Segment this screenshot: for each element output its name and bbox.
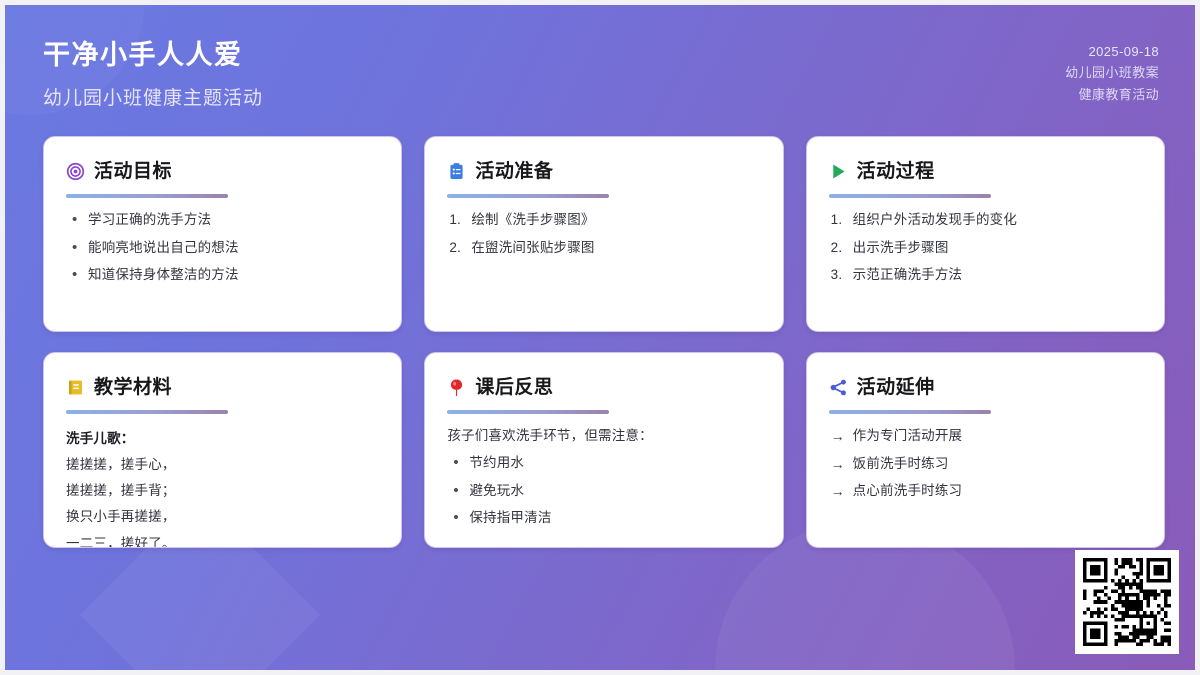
card-header-extension: 活动延伸 bbox=[829, 373, 1142, 401]
card-reflection[interactable]: 课后反思孩子们喜欢洗手环节，但需注意：节约用水避免玩水保持指甲清洁 bbox=[424, 352, 783, 548]
list-item: 保持指甲清洁 bbox=[447, 509, 760, 527]
page-title: 干净小手人人爱 bbox=[43, 39, 263, 73]
card-title: 教学材料 bbox=[94, 378, 172, 397]
book-icon bbox=[66, 378, 85, 397]
card-objectives[interactable]: 活动目标学习正确的洗手方法能响亮地说出自己的想法知道保持身体整洁的方法 bbox=[43, 136, 402, 332]
card-header-objectives: 活动目标 bbox=[66, 157, 379, 185]
list-item: 节约用水 bbox=[447, 454, 760, 472]
poem-line: 一二三，搓好了。 bbox=[66, 535, 379, 548]
card-materials[interactable]: 教学材料洗手儿歌：搓搓搓，搓手心，搓搓搓，搓手背；换只小手再搓搓，一二三，搓好了… bbox=[43, 352, 402, 548]
target-icon bbox=[66, 162, 85, 181]
list-item: 组织户外活动发现手的变化 bbox=[829, 211, 1142, 229]
card-body-preparation: 绘制《洗手步骤图》在盥洗间张贴步骤图 bbox=[447, 211, 760, 256]
list-item: 绘制《洗手步骤图》 bbox=[447, 211, 760, 229]
card-body-process: 组织户外活动发现手的变化出示洗手步骤图示范正确洗手方法 bbox=[829, 211, 1142, 284]
list-item: 避免玩水 bbox=[447, 482, 760, 500]
card-title: 活动延伸 bbox=[857, 378, 935, 397]
slide-header: 干净小手人人爱 幼儿园小班健康主题活动 2025-09-18 幼儿园小班教案 健… bbox=[5, 5, 1195, 127]
poem-line: 换只小手再搓搓， bbox=[66, 508, 379, 526]
card-list-extension: 作为专门活动开展饭前洗手时练习点心前洗手时练习 bbox=[829, 427, 1142, 500]
card-body-objectives: 学习正确的洗手方法能响亮地说出自己的想法知道保持身体整洁的方法 bbox=[66, 211, 379, 284]
card-underline bbox=[66, 194, 228, 198]
card-list-preparation: 绘制《洗手步骤图》在盥洗间张贴步骤图 bbox=[447, 211, 760, 256]
header-title-group: 干净小手人人爱 幼儿园小班健康主题活动 bbox=[43, 39, 263, 110]
card-title: 活动过程 bbox=[857, 162, 935, 181]
reflection-lead-text: 孩子们喜欢洗手环节，但需注意： bbox=[447, 427, 760, 445]
clipboard-icon bbox=[447, 162, 466, 181]
list-item: 示范正确洗手方法 bbox=[829, 266, 1142, 284]
poem-heading: 洗手儿歌： bbox=[66, 427, 379, 447]
card-list-reflection: 节约用水避免玩水保持指甲清洁 bbox=[447, 454, 760, 527]
card-body-reflection: 孩子们喜欢洗手环节，但需注意：节约用水避免玩水保持指甲清洁 bbox=[447, 427, 760, 527]
list-item: 饭前洗手时练习 bbox=[829, 455, 1142, 473]
card-title: 活动目标 bbox=[94, 162, 172, 181]
header-meta-group: 2025-09-18 幼儿园小班教案 健康教育活动 bbox=[1065, 39, 1159, 105]
meta-date: 2025-09-18 bbox=[1089, 41, 1160, 62]
card-body-materials: 洗手儿歌：搓搓搓，搓手心，搓搓搓，搓手背；换只小手再搓搓，一二三，搓好了。 bbox=[66, 427, 379, 548]
card-list-process: 组织户外活动发现手的变化出示洗手步骤图示范正确洗手方法 bbox=[829, 211, 1142, 284]
card-title: 课后反思 bbox=[475, 378, 553, 397]
list-item: 知道保持身体整洁的方法 bbox=[66, 266, 379, 284]
list-item: 出示洗手步骤图 bbox=[829, 239, 1142, 257]
slide-root: 干净小手人人爱 幼儿园小班健康主题活动 2025-09-18 幼儿园小班教案 健… bbox=[0, 0, 1200, 675]
list-item: 作为专门活动开展 bbox=[829, 427, 1142, 445]
page-subtitle: 幼儿园小班健康主题活动 bbox=[43, 83, 263, 110]
play-icon bbox=[829, 162, 848, 181]
card-header-reflection: 课后反思 bbox=[447, 373, 760, 401]
card-preparation[interactable]: 活动准备绘制《洗手步骤图》在盥洗间张贴步骤图 bbox=[424, 136, 783, 332]
card-underline bbox=[66, 410, 228, 414]
card-underline bbox=[829, 410, 991, 414]
card-grid: 活动目标学习正确的洗手方法能响亮地说出自己的想法知道保持身体整洁的方法活动准备绘… bbox=[43, 136, 1165, 548]
pin-icon bbox=[447, 378, 466, 397]
card-header-process: 活动过程 bbox=[829, 157, 1142, 185]
card-underline bbox=[829, 194, 991, 198]
card-header-preparation: 活动准备 bbox=[447, 157, 760, 185]
card-process[interactable]: 活动过程组织户外活动发现手的变化出示洗手步骤图示范正确洗手方法 bbox=[806, 136, 1165, 332]
poem-line: 搓搓搓，搓手背； bbox=[66, 482, 379, 500]
list-item: 在盥洗间张贴步骤图 bbox=[447, 239, 760, 257]
card-title: 活动准备 bbox=[475, 162, 553, 181]
meta-type: 健康教育活动 bbox=[1079, 84, 1159, 105]
qr-code-image bbox=[1083, 558, 1171, 646]
meta-category: 幼儿园小班教案 bbox=[1065, 62, 1159, 83]
card-header-materials: 教学材料 bbox=[66, 373, 379, 401]
poem-line: 搓搓搓，搓手心， bbox=[66, 456, 379, 474]
card-underline bbox=[447, 410, 609, 414]
card-extension[interactable]: 活动延伸作为专门活动开展饭前洗手时练习点心前洗手时练习 bbox=[806, 352, 1165, 548]
list-item: 学习正确的洗手方法 bbox=[66, 211, 379, 229]
card-list-objectives: 学习正确的洗手方法能响亮地说出自己的想法知道保持身体整洁的方法 bbox=[66, 211, 379, 284]
share-icon bbox=[829, 378, 848, 397]
qr-code[interactable] bbox=[1075, 550, 1179, 654]
card-body-extension: 作为专门活动开展饭前洗手时练习点心前洗手时练习 bbox=[829, 427, 1142, 500]
card-underline bbox=[447, 194, 609, 198]
list-item: 能响亮地说出自己的想法 bbox=[66, 239, 379, 257]
list-item: 点心前洗手时练习 bbox=[829, 482, 1142, 500]
